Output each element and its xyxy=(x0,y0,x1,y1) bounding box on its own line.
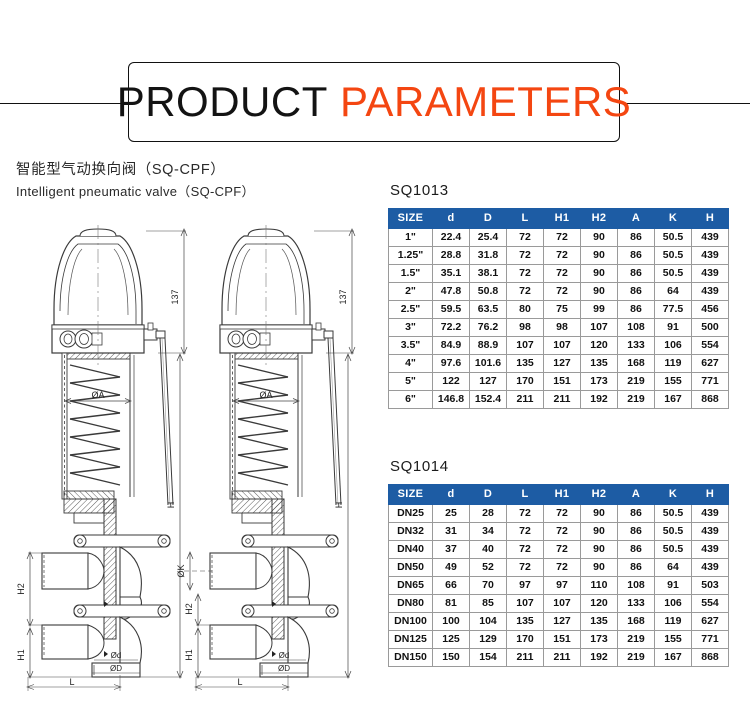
cell-h: 868 xyxy=(692,391,729,409)
cell-h: 439 xyxy=(692,247,729,265)
cell-h1: 151 xyxy=(544,373,581,391)
table-row: DN3231347272908650.5439 xyxy=(389,523,729,541)
cell-d: 25.4 xyxy=(470,229,507,247)
cell-a: 133 xyxy=(618,595,655,613)
cell-size: DN25 xyxy=(389,505,433,523)
cell-size: 3" xyxy=(389,319,433,337)
column-header-d: D xyxy=(470,209,507,229)
cell-h1: 72 xyxy=(544,541,581,559)
cell-k: 106 xyxy=(655,337,692,355)
cell-k: 64 xyxy=(655,559,692,577)
table-row: DN125125129170151173219155771 xyxy=(389,631,729,649)
cell-h2: 135 xyxy=(581,613,618,631)
column-header-h2: H2 xyxy=(581,209,618,229)
cell-a: 86 xyxy=(618,559,655,577)
cell-d: 52 xyxy=(470,559,507,577)
banner-box: PRODUCT PARAMETERS xyxy=(128,62,620,142)
table-row: DN4037407272908650.5439 xyxy=(389,541,729,559)
cell-h2: 173 xyxy=(581,631,618,649)
cell-a: 86 xyxy=(618,301,655,319)
dim-h1-left: H1 xyxy=(16,649,26,661)
page-title-secondary: PARAMETERS xyxy=(340,78,631,125)
cell-h: 439 xyxy=(692,541,729,559)
cell-d: 81 xyxy=(433,595,470,613)
cell-h1: 98 xyxy=(544,319,581,337)
cell-h1: 72 xyxy=(544,523,581,541)
cell-l: 72 xyxy=(507,541,544,559)
cell-h1: 211 xyxy=(544,391,581,409)
cell-l: 98 xyxy=(507,319,544,337)
product-name-chinese: 智能型气动换向阀（SQ-CPF） xyxy=(16,160,356,182)
page-banner: PRODUCT PARAMETERS xyxy=(0,62,750,144)
product-name-english: Intelligent pneumatic valve（SQ-CPF） xyxy=(16,182,356,202)
dim-l-left: L xyxy=(69,677,74,687)
column-header-a: A xyxy=(618,485,655,505)
cell-h2: 120 xyxy=(581,337,618,355)
cell-d: 100 xyxy=(433,613,470,631)
spec-table-sq1013: SIZEdDLH1H2AKH 1"22.425.47272908650.5439… xyxy=(388,208,729,409)
cell-a: 86 xyxy=(618,523,655,541)
table-row: 3"72.276.2989810710891500 xyxy=(389,319,729,337)
cell-h1: 107 xyxy=(544,337,581,355)
table-row: DN808185107107120133106554 xyxy=(389,595,729,613)
cell-h1: 127 xyxy=(544,355,581,373)
cell-d: 22.4 xyxy=(433,229,470,247)
cell-h1: 72 xyxy=(544,265,581,283)
cell-d: 154 xyxy=(470,649,507,667)
cell-d: 146.8 xyxy=(433,391,470,409)
cell-k: 50.5 xyxy=(655,247,692,265)
cell-h1: 72 xyxy=(544,505,581,523)
cell-k: 77.5 xyxy=(655,301,692,319)
cell-l: 170 xyxy=(507,373,544,391)
cell-a: 219 xyxy=(618,649,655,667)
column-header-h1: H1 xyxy=(544,209,581,229)
cell-h: 503 xyxy=(692,577,729,595)
cell-size: 5" xyxy=(389,373,433,391)
cell-k: 106 xyxy=(655,595,692,613)
cell-size: 1.5" xyxy=(389,265,433,283)
product-caption: 智能型气动换向阀（SQ-CPF） Intelligent pneumatic v… xyxy=(16,160,356,201)
cell-k: 155 xyxy=(655,373,692,391)
cell-d: 129 xyxy=(470,631,507,649)
column-header-h: H xyxy=(692,209,729,229)
cell-h1: 72 xyxy=(544,247,581,265)
cell-h2: 90 xyxy=(581,541,618,559)
cell-d: 35.1 xyxy=(433,265,470,283)
cell-h: 771 xyxy=(692,631,729,649)
spec-title-sq1014: SQ1014 xyxy=(390,458,728,475)
cell-k: 155 xyxy=(655,631,692,649)
cell-h2: 173 xyxy=(581,373,618,391)
table-row: 6"146.8152.4211211192219167868 xyxy=(389,391,729,409)
dim-h2-right: H2 xyxy=(184,603,194,615)
cell-h2: 135 xyxy=(581,355,618,373)
cell-h2: 99 xyxy=(581,301,618,319)
cell-a: 108 xyxy=(618,577,655,595)
cell-h: 439 xyxy=(692,559,729,577)
cell-d: 104 xyxy=(470,613,507,631)
cell-h2: 107 xyxy=(581,319,618,337)
cell-l: 135 xyxy=(507,613,544,631)
cell-a: 108 xyxy=(618,319,655,337)
cell-size: DN50 xyxy=(389,559,433,577)
dim-h-right: H xyxy=(334,502,344,509)
cell-h1: 151 xyxy=(544,631,581,649)
cell-h2: 90 xyxy=(581,247,618,265)
cell-h: 627 xyxy=(692,613,729,631)
cell-d: 63.5 xyxy=(470,301,507,319)
table-row: 1"22.425.47272908650.5439 xyxy=(389,229,729,247)
cell-a: 86 xyxy=(618,505,655,523)
cell-k: 50.5 xyxy=(655,523,692,541)
cell-l: 72 xyxy=(507,559,544,577)
cell-h2: 110 xyxy=(581,577,618,595)
cell-d: 31.8 xyxy=(470,247,507,265)
cell-h1: 211 xyxy=(544,649,581,667)
cell-d: 70 xyxy=(470,577,507,595)
cell-k: 50.5 xyxy=(655,265,692,283)
cell-size: DN150 xyxy=(389,649,433,667)
cell-k: 167 xyxy=(655,649,692,667)
spec-table-sq1014: SIZEdDLH1H2AKH DN2525287272908650.5439DN… xyxy=(388,484,729,667)
cell-a: 86 xyxy=(618,229,655,247)
table-row: 1.25"28.831.87272908650.5439 xyxy=(389,247,729,265)
cell-d: 122 xyxy=(433,373,470,391)
page-title-primary: PRODUCT xyxy=(117,78,328,125)
banner-rule-left xyxy=(0,103,129,104)
cell-size: DN40 xyxy=(389,541,433,559)
dim-small-d-left: Ød xyxy=(111,651,122,660)
column-header-h2: H2 xyxy=(581,485,618,505)
table-row: DN5049527272908664439 xyxy=(389,559,729,577)
cell-l: 107 xyxy=(507,595,544,613)
cell-a: 86 xyxy=(618,265,655,283)
cell-size: 1.25" xyxy=(389,247,433,265)
cell-d: 101.6 xyxy=(470,355,507,373)
cell-h2: 90 xyxy=(581,523,618,541)
column-header-h: H xyxy=(692,485,729,505)
spec-block-sq1014: SQ1014 SIZEdDLH1H2AKH DN2525287272908650… xyxy=(388,458,728,667)
cell-d: 34 xyxy=(470,523,507,541)
spec-title-sq1013: SQ1013 xyxy=(390,182,728,199)
cell-k: 50.5 xyxy=(655,505,692,523)
valve-drawing-svg: 137 ØA H H2 H1 Ød ØD L xyxy=(8,205,378,695)
cell-k: 167 xyxy=(655,391,692,409)
cell-a: 86 xyxy=(618,247,655,265)
cell-k: 50.5 xyxy=(655,229,692,247)
cell-h1: 72 xyxy=(544,559,581,577)
cell-d: 47.8 xyxy=(433,283,470,301)
cell-a: 219 xyxy=(618,391,655,409)
cell-l: 72 xyxy=(507,247,544,265)
cell-d: 84.9 xyxy=(433,337,470,355)
cell-h: 554 xyxy=(692,337,729,355)
cell-d: 127 xyxy=(470,373,507,391)
cell-d: 88.9 xyxy=(470,337,507,355)
cell-d: 40 xyxy=(470,541,507,559)
cell-h: 868 xyxy=(692,649,729,667)
cell-d: 125 xyxy=(433,631,470,649)
dim-h2-left: H2 xyxy=(16,583,26,595)
cell-d: 28.8 xyxy=(433,247,470,265)
cell-d: 150 xyxy=(433,649,470,667)
cell-d: 76.2 xyxy=(470,319,507,337)
table-row: DN656670979711010891503 xyxy=(389,577,729,595)
cell-size: DN32 xyxy=(389,523,433,541)
table-row: 2.5"59.563.58075998677.5456 xyxy=(389,301,729,319)
cell-d: 28 xyxy=(470,505,507,523)
cell-h: 500 xyxy=(692,319,729,337)
column-header-size: SIZE xyxy=(389,485,433,505)
cell-h1: 97 xyxy=(544,577,581,595)
cell-l: 72 xyxy=(507,283,544,301)
dim-big-d-right: ØD xyxy=(278,664,290,673)
cell-l: 72 xyxy=(507,265,544,283)
dim-big-d-left: ØD xyxy=(110,664,122,673)
cell-h1: 75 xyxy=(544,301,581,319)
valve-view-left: 137 ØA H H2 H1 Ød ØD L xyxy=(16,225,187,691)
table-row: DN2525287272908650.5439 xyxy=(389,505,729,523)
cell-k: 91 xyxy=(655,577,692,595)
cell-size: 4" xyxy=(389,355,433,373)
table-row: 3.5"84.988.9107107120133106554 xyxy=(389,337,729,355)
cell-a: 219 xyxy=(618,373,655,391)
table-row: 4"97.6101.6135127135168119627 xyxy=(389,355,729,373)
column-header-d: d xyxy=(433,485,470,505)
column-header-d: D xyxy=(470,485,507,505)
cell-k: 119 xyxy=(655,355,692,373)
cell-h1: 107 xyxy=(544,595,581,613)
banner-rule-right xyxy=(621,103,750,104)
cell-a: 86 xyxy=(618,541,655,559)
cell-d: 85 xyxy=(470,595,507,613)
cell-d: 72.2 xyxy=(433,319,470,337)
table-row: 1.5"35.138.17272908650.5439 xyxy=(389,265,729,283)
cell-l: 211 xyxy=(507,391,544,409)
cell-a: 219 xyxy=(618,631,655,649)
column-header-a: A xyxy=(618,209,655,229)
technical-drawings: 137 ØA H H2 H1 Ød ØD L xyxy=(8,205,378,695)
cell-l: 135 xyxy=(507,355,544,373)
column-header-k: K xyxy=(655,209,692,229)
cell-h: 439 xyxy=(692,505,729,523)
cell-h: 439 xyxy=(692,265,729,283)
column-header-d: d xyxy=(433,209,470,229)
cell-d: 59.5 xyxy=(433,301,470,319)
table-header-row: SIZEdDLH1H2AKH xyxy=(389,485,729,505)
table-row: 5"122127170151173219155771 xyxy=(389,373,729,391)
cell-h1: 127 xyxy=(544,613,581,631)
dim-l-right: L xyxy=(237,677,242,687)
cell-size: 2" xyxy=(389,283,433,301)
column-header-k: K xyxy=(655,485,692,505)
cell-d: 25 xyxy=(433,505,470,523)
cell-size: 2.5" xyxy=(389,301,433,319)
column-header-l: L xyxy=(507,485,544,505)
cell-h2: 192 xyxy=(581,649,618,667)
cell-d: 66 xyxy=(433,577,470,595)
cell-d: 152.4 xyxy=(470,391,507,409)
cell-d: 49 xyxy=(433,559,470,577)
cell-l: 80 xyxy=(507,301,544,319)
cell-h1: 72 xyxy=(544,229,581,247)
column-header-size: SIZE xyxy=(389,209,433,229)
table-row: DN100100104135127135168119627 xyxy=(389,613,729,631)
cell-k: 50.5 xyxy=(655,541,692,559)
cell-d: 37 xyxy=(433,541,470,559)
cell-h: 554 xyxy=(692,595,729,613)
cell-l: 72 xyxy=(507,229,544,247)
table-header-row: SIZEdDLH1H2AKH xyxy=(389,209,729,229)
cell-k: 119 xyxy=(655,613,692,631)
cell-h: 439 xyxy=(692,283,729,301)
cell-d: 31 xyxy=(433,523,470,541)
cell-size: DN125 xyxy=(389,631,433,649)
cell-size: DN100 xyxy=(389,613,433,631)
cell-h: 456 xyxy=(692,301,729,319)
cell-l: 107 xyxy=(507,337,544,355)
cell-h: 771 xyxy=(692,373,729,391)
table-row: 2"47.850.87272908664439 xyxy=(389,283,729,301)
cell-d: 97.6 xyxy=(433,355,470,373)
cell-h2: 90 xyxy=(581,283,618,301)
cell-d: 38.1 xyxy=(470,265,507,283)
cell-l: 97 xyxy=(507,577,544,595)
cell-h2: 90 xyxy=(581,229,618,247)
cell-l: 211 xyxy=(507,649,544,667)
cell-a: 168 xyxy=(618,613,655,631)
cell-size: DN65 xyxy=(389,577,433,595)
column-header-l: L xyxy=(507,209,544,229)
cell-h2: 90 xyxy=(581,505,618,523)
cell-h2: 192 xyxy=(581,391,618,409)
cell-l: 72 xyxy=(507,523,544,541)
dim-diameter-a-left: ØA xyxy=(91,390,104,400)
cell-h: 439 xyxy=(692,523,729,541)
cell-size: 1" xyxy=(389,229,433,247)
dim-small-d-right: Ød xyxy=(279,651,290,660)
dim-h-left: H xyxy=(166,502,176,509)
cell-size: 6" xyxy=(389,391,433,409)
dim-diameter-a-right: ØA xyxy=(259,390,272,400)
dim-diameter-k-right: ØK xyxy=(176,564,186,577)
cell-h: 627 xyxy=(692,355,729,373)
cell-h1: 72 xyxy=(544,283,581,301)
cell-h2: 90 xyxy=(581,559,618,577)
table-row: DN150150154211211192219167868 xyxy=(389,649,729,667)
column-header-h1: H1 xyxy=(544,485,581,505)
cell-a: 86 xyxy=(618,283,655,301)
dim-137-right: 137 xyxy=(338,289,348,304)
cell-l: 72 xyxy=(507,505,544,523)
cell-a: 168 xyxy=(618,355,655,373)
cell-k: 91 xyxy=(655,319,692,337)
dim-h1-right: H1 xyxy=(184,649,194,661)
cell-h2: 120 xyxy=(581,595,618,613)
page-title: PRODUCT PARAMETERS xyxy=(117,78,632,126)
spec-block-sq1013: SQ1013 SIZEdDLH1H2AKH 1"22.425.472729086… xyxy=(388,182,728,409)
valve-view-right: 137 ØA H ØK H2 H1 Ød ØD xyxy=(176,225,355,691)
cell-l: 170 xyxy=(507,631,544,649)
cell-d: 50.8 xyxy=(470,283,507,301)
cell-size: DN80 xyxy=(389,595,433,613)
cell-k: 64 xyxy=(655,283,692,301)
cell-h: 439 xyxy=(692,229,729,247)
dim-137-left: 137 xyxy=(170,289,180,304)
cell-size: 3.5" xyxy=(389,337,433,355)
cell-h2: 90 xyxy=(581,265,618,283)
cell-a: 133 xyxy=(618,337,655,355)
